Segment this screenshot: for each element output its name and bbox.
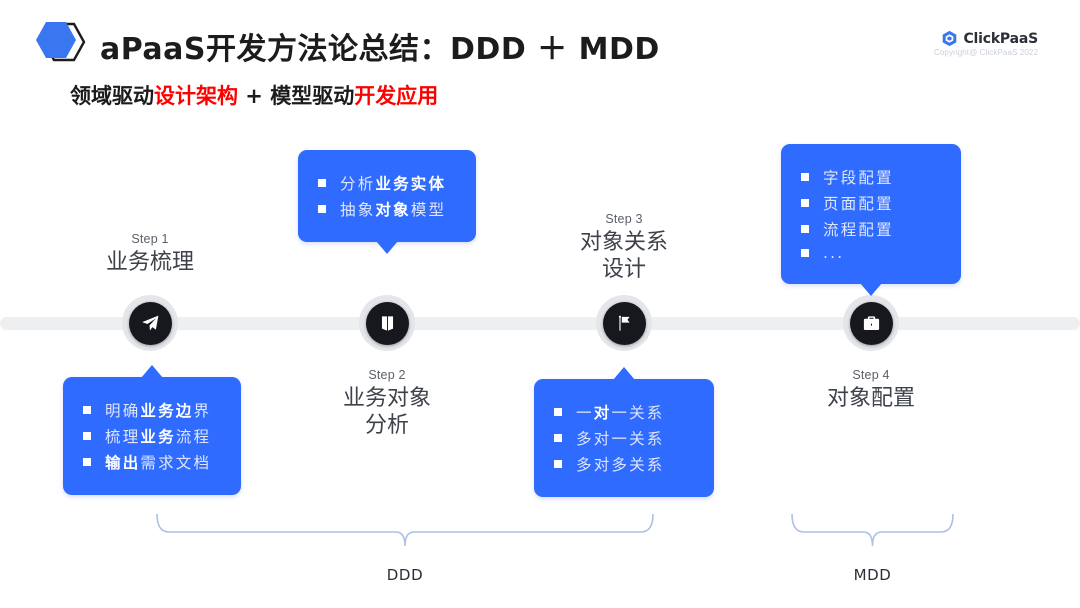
bullet-square-icon (554, 460, 562, 468)
timeline-node-step-4[interactable] (843, 295, 899, 351)
callout-bullet-text: 多对一关系 (576, 427, 665, 449)
callout-bullet-text: 明确业务边界 (105, 399, 211, 421)
callout-bullet: 抽象对象模型 (318, 198, 456, 220)
callout-step-3: 一对一关系多对一关系多对多关系 (534, 379, 714, 497)
bullet-square-icon (318, 179, 326, 187)
callout-pointer (613, 367, 635, 380)
bullet-square-icon (83, 406, 91, 414)
bullet-square-icon (83, 458, 91, 466)
step-title-4: 对象配置 (781, 386, 961, 413)
callout-bullet: 输出需求文档 (83, 451, 221, 473)
callout-bullet: 一对一关系 (554, 401, 694, 423)
brand-logo: ClickPaaS (941, 30, 1038, 47)
callout-bullet-text: 抽象对象模型 (340, 198, 446, 220)
step-title-1: 业务梳理 (60, 250, 240, 277)
timeline-node-step-3[interactable] (596, 295, 652, 351)
bracket-mdd (790, 512, 955, 550)
callout-bullet-text: 输出需求文档 (105, 451, 211, 473)
callout-pointer (141, 365, 163, 378)
bullet-square-icon (83, 432, 91, 440)
subtitle-plain: + 模型驱动 (238, 84, 354, 108)
step-number-4: Step 4 (781, 368, 961, 382)
callout-bullet: 流程配置 (801, 218, 941, 240)
callout-bullet-text: 字段配置 (823, 166, 894, 188)
callout-bullet-text: 多对多关系 (576, 453, 665, 475)
callout-bullet: 多对一关系 (554, 427, 694, 449)
callout-bullet: ... (801, 244, 941, 262)
step-title-3: 对象关系 设计 (534, 230, 714, 284)
subtitle-plain: 领域驱动 (70, 84, 154, 108)
timeline-node-step-2[interactable] (359, 295, 415, 351)
callout-bullet: 页面配置 (801, 192, 941, 214)
bracket-label-ddd: DDD (155, 566, 655, 584)
callout-bullet-text: ... (823, 244, 844, 262)
bullet-square-icon (318, 205, 326, 213)
callout-bullet: 字段配置 (801, 166, 941, 188)
callout-pointer (860, 283, 882, 296)
bullet-square-icon (801, 199, 809, 207)
slide-canvas: aPaaS开发方法论总结：DDD ＋ MDD 领域驱动设计架构 + 模型驱动开发… (0, 0, 1080, 608)
step-label-4: Step 4对象配置 (781, 368, 961, 413)
step-label-3: Step 3对象关系 设计 (534, 212, 714, 284)
page-subtitle: 领域驱动设计架构 + 模型驱动开发应用 (70, 80, 438, 110)
step-number-1: Step 1 (60, 232, 240, 246)
callout-bullet-text: 一对一关系 (576, 401, 665, 423)
hexagon-logo-icon (28, 18, 92, 66)
callout-bullet-text: 分析业务实体 (340, 172, 446, 194)
bullet-square-icon (801, 249, 809, 257)
clickpaas-hex-icon (941, 30, 958, 47)
briefcase-icon (850, 302, 893, 345)
bracket-label-mdd: MDD (790, 566, 955, 584)
step-title-2: 业务对象 分析 (297, 386, 477, 440)
step-label-2: Step 2业务对象 分析 (297, 368, 477, 440)
callout-step-2: 分析业务实体抽象对象模型 (298, 150, 476, 242)
flag-icon (603, 302, 646, 345)
bullet-square-icon (801, 173, 809, 181)
bullet-square-icon (554, 408, 562, 416)
step-number-3: Step 3 (534, 212, 714, 226)
callout-bullet-text: 梳理业务流程 (105, 425, 211, 447)
callout-bullet-text: 流程配置 (823, 218, 894, 240)
bullet-square-icon (801, 225, 809, 233)
brand-name: ClickPaaS (963, 31, 1038, 47)
subtitle-highlight: 设计架构 (154, 84, 238, 108)
timeline-node-step-1[interactable] (122, 295, 178, 351)
callout-bullet: 梳理业务流程 (83, 425, 221, 447)
bullet-square-icon (554, 434, 562, 442)
step-label-1: Step 1业务梳理 (60, 232, 240, 277)
callout-step-4: 字段配置页面配置流程配置... (781, 144, 961, 284)
callout-pointer (376, 241, 398, 254)
callout-bullet: 明确业务边界 (83, 399, 221, 421)
subtitle-highlight: 开发应用 (354, 84, 438, 108)
page-title: aPaaS开发方法论总结：DDD ＋ MDD (100, 24, 660, 68)
callout-step-1: 明确业务边界梳理业务流程输出需求文档 (63, 377, 241, 495)
step-number-2: Step 2 (297, 368, 477, 382)
bracket-ddd (155, 512, 655, 550)
paper-plane-icon (129, 302, 172, 345)
callout-bullet: 多对多关系 (554, 453, 694, 475)
callout-bullet: 分析业务实体 (318, 172, 456, 194)
book-icon (366, 302, 409, 345)
callout-bullet-text: 页面配置 (823, 192, 894, 214)
copyright-text: Copyright@ ClickPaaS 2022 (934, 48, 1038, 57)
